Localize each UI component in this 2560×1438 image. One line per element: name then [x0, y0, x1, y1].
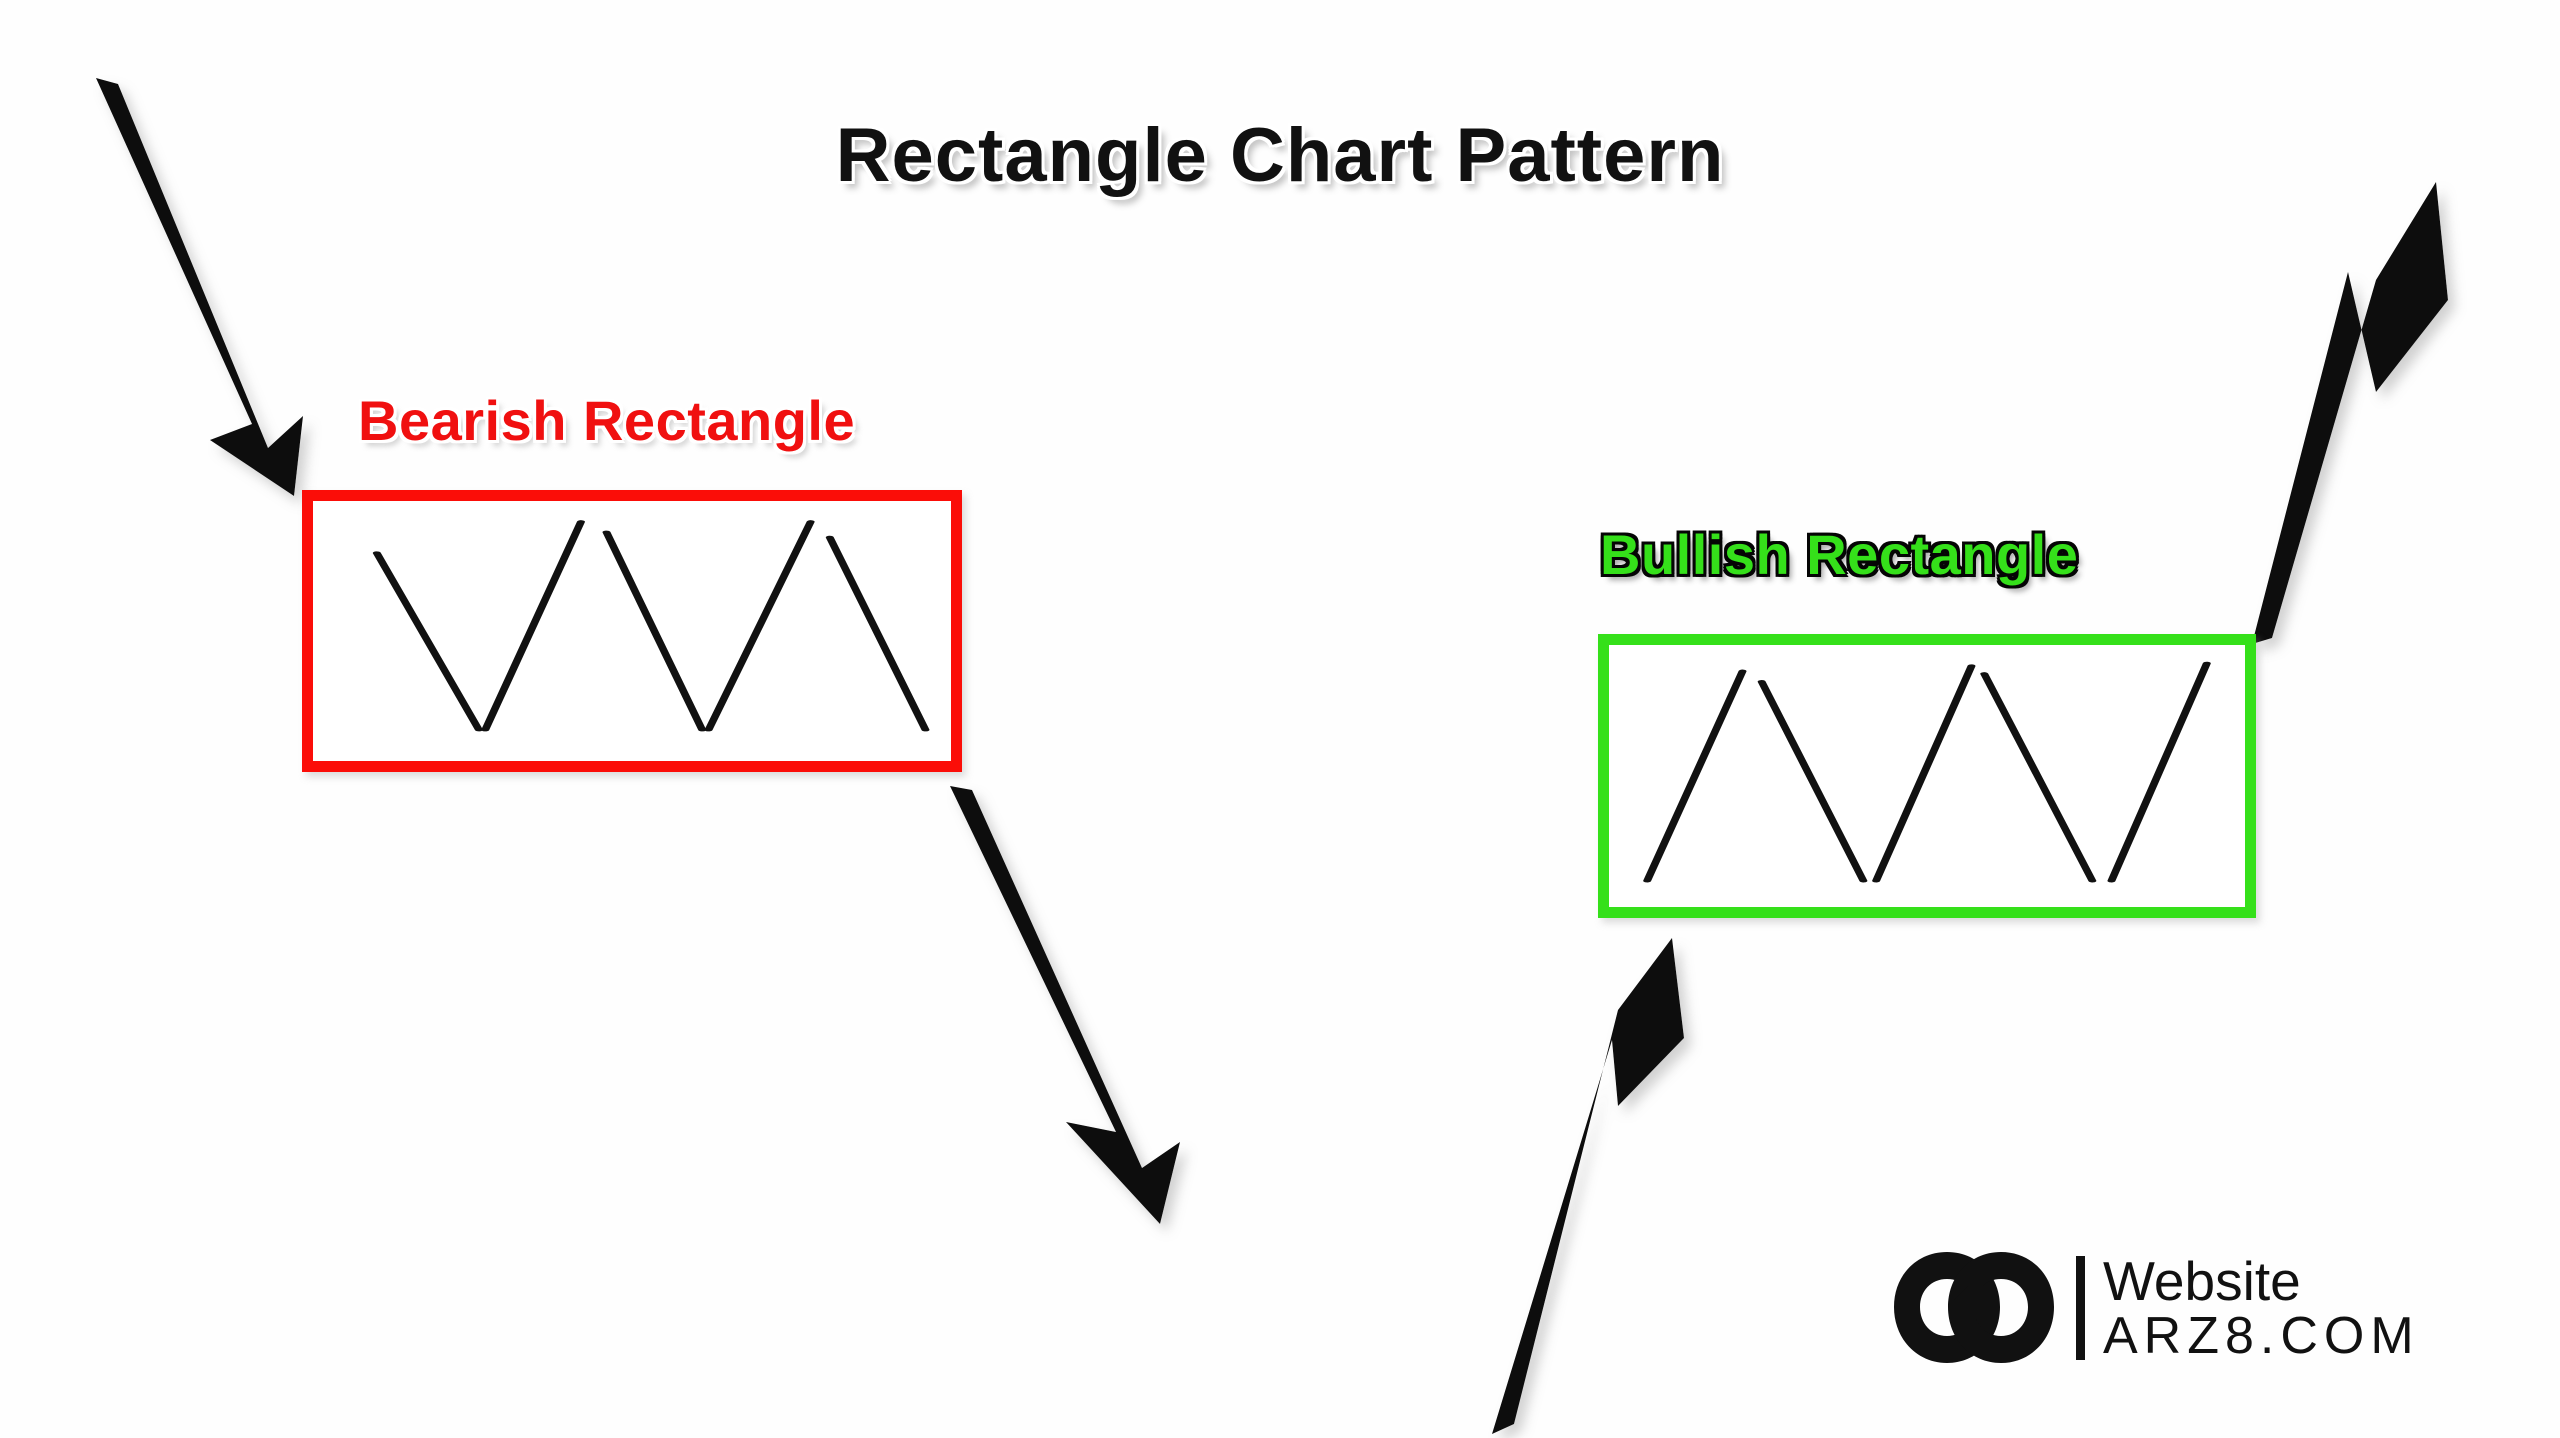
zigzag-segment: [1984, 674, 2092, 881]
zigzag-segment: [1762, 682, 1864, 881]
logo-website-label: Website: [2103, 1253, 2420, 1309]
zigzag-segment: [377, 553, 479, 730]
bullish-rectangle-label: Bullish Rectangle: [1600, 522, 2078, 587]
zigzag-segment: [830, 537, 926, 729]
bearish-rectangle-label: Bearish Rectangle: [358, 388, 855, 453]
bullish-breakout-arrow: [2252, 182, 2448, 644]
bullish-rectangle-box: [1598, 634, 2256, 918]
zigzag-segment: [485, 522, 581, 730]
uptrend-entry-arrow: [1492, 938, 1684, 1434]
bearish-rectangle-box: [302, 490, 962, 772]
bearish-zigzag-chart: [313, 501, 951, 761]
zigzag-segment: [2111, 663, 2206, 880]
zigzag-segment: [709, 522, 811, 730]
logo-divider: [2076, 1256, 2085, 1360]
page-title: Rectangle Chart Pattern: [0, 112, 2560, 199]
logo-domain-label: ARZ8.COM: [2103, 1310, 2420, 1363]
zigzag-segment: [1647, 671, 1742, 881]
site-logo[interactable]: Website ARZ8.COM: [1890, 1248, 2420, 1368]
infographic-canvas: Rectangle Chart Pattern Bearish Rectangl…: [0, 0, 2560, 1438]
bullish-zigzag-chart: [1609, 645, 2245, 907]
zigzag-segment: [1876, 666, 1971, 881]
zigzag-segment: [606, 532, 702, 730]
bearish-breakdown-arrow: [950, 786, 1180, 1224]
interlocking-rings-icon: [1890, 1248, 2058, 1368]
logo-text-block: Website ARZ8.COM: [2103, 1253, 2420, 1362]
